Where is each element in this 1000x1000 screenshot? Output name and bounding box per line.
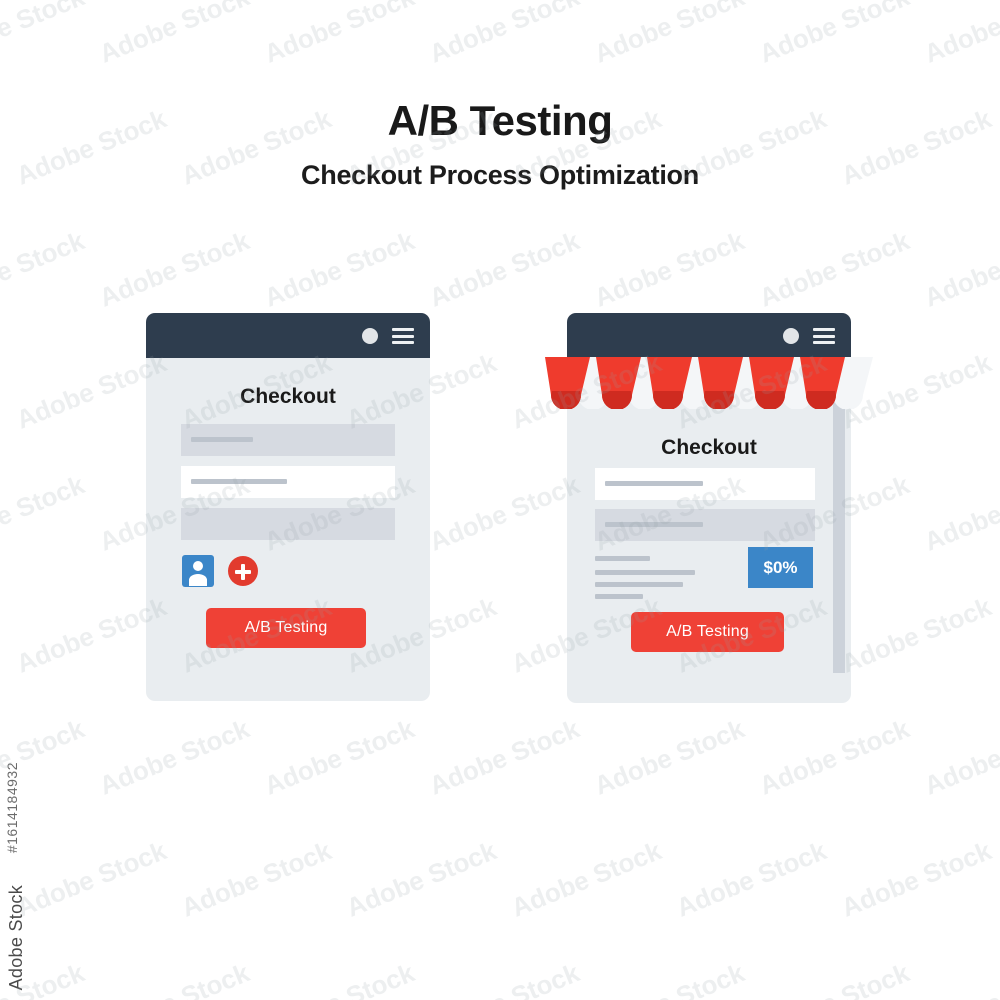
variant-b-heading: Checkout	[567, 436, 851, 460]
hamburger-menu-icon[interactable]	[392, 328, 414, 344]
page-subtitle: Checkout Process Optimization	[0, 160, 1000, 191]
summary-line	[595, 570, 695, 575]
watermark-text: Adobe Stock	[507, 835, 666, 923]
page-edge-strip	[833, 373, 845, 673]
variant-b-field-2[interactable]	[595, 509, 815, 541]
watermark-text: Adobe Stock	[920, 713, 1000, 801]
store-awning-icon	[545, 357, 873, 409]
watermark-text: Adobe Stock	[260, 225, 419, 313]
watermark-text: Adobe Stock	[95, 713, 254, 801]
variant-a-field-3[interactable]	[181, 508, 395, 540]
variant-a-topbar	[146, 313, 430, 358]
watermark-text: Adobe Stock	[425, 957, 584, 1000]
watermark-asset-id: #1614184932	[4, 762, 20, 853]
watermark-text: Adobe Stock	[177, 835, 336, 923]
watermark-text: Adobe Stock	[425, 225, 584, 313]
watermark-text: Adobe Stock	[425, 713, 584, 801]
watermark-text: Adobe Stock	[260, 713, 419, 801]
watermark-text: Adobe Stock	[425, 469, 584, 557]
placeholder-line	[605, 522, 703, 527]
watermark-text: Adobe Stock	[342, 835, 501, 923]
watermark-text: Adobe Stock	[95, 225, 254, 313]
plus-vertical-bar	[241, 564, 245, 580]
watermark-text: Adobe Stock	[672, 835, 831, 923]
watermark-text: Adobe Stock	[837, 591, 996, 679]
watermark-text: Adobe Stock	[755, 225, 914, 313]
watermark-text: Adobe Stock	[260, 957, 419, 1000]
circle-icon[interactable]	[783, 328, 799, 344]
illustration-canvas: A/B Testing Checkout Process Optimizatio…	[0, 0, 1000, 1000]
watermark-text: Adobe Stock	[920, 0, 1000, 70]
summary-line	[595, 594, 643, 599]
watermark-text: Adobe Stock	[920, 469, 1000, 557]
summary-line	[595, 556, 650, 561]
variant-a-field-2[interactable]	[181, 466, 395, 498]
awning-stripes-svg	[545, 357, 873, 409]
variant-b-topbar	[567, 313, 851, 358]
watermark-text: Adobe Stock	[920, 225, 1000, 313]
user-avatar-icon[interactable]	[182, 555, 214, 587]
placeholder-line	[605, 481, 703, 486]
watermark-text: Adobe Stock	[12, 835, 171, 923]
discount-badge[interactable]: $0%	[748, 547, 813, 588]
watermark-text: Adobe Stock	[755, 0, 914, 70]
watermark-text: Adobe Stock	[95, 0, 254, 70]
variant-a-cta-button[interactable]: A/B Testing	[206, 608, 366, 648]
watermark-text: Adobe Stock	[590, 713, 749, 801]
placeholder-line	[191, 479, 287, 484]
variant-a-card[interactable]: Checkout A/B Testing	[146, 313, 430, 701]
watermark-text: Adobe Stock	[920, 957, 1000, 1000]
variant-a-field-1[interactable]	[181, 424, 395, 456]
variant-a-heading: Checkout	[146, 385, 430, 409]
watermark-text: Adobe Stock	[590, 957, 749, 1000]
watermark-brand: Adobe Stock	[6, 885, 27, 990]
placeholder-line	[191, 437, 253, 442]
watermark-text: Adobe Stock	[755, 713, 914, 801]
watermark-text: Adobe Stock	[0, 469, 89, 557]
watermark-text: Adobe Stock	[95, 957, 254, 1000]
avatar-head-shape	[193, 561, 203, 571]
watermark-text: Adobe Stock	[590, 225, 749, 313]
variant-b-cta-button[interactable]: A/B Testing	[631, 612, 784, 652]
watermark-text: Adobe Stock	[260, 0, 419, 70]
hamburger-menu-icon[interactable]	[813, 328, 835, 344]
watermark-text: Adobe Stock	[425, 0, 584, 70]
avatar-body-shape	[189, 574, 207, 586]
watermark-text: Adobe Stock	[590, 0, 749, 70]
watermark-text: Adobe Stock	[755, 957, 914, 1000]
variant-b-field-1[interactable]	[595, 468, 815, 500]
variant-b-card[interactable]: Checkout $0% A/B Testing	[567, 313, 851, 703]
watermark-text: Adobe Stock	[0, 0, 89, 70]
summary-line	[595, 582, 683, 587]
variant-b-summary-lines	[595, 556, 735, 602]
watermark-text: Adobe Stock	[837, 835, 996, 923]
add-plus-icon[interactable]	[228, 556, 258, 586]
page-title: A/B Testing	[0, 97, 1000, 145]
watermark-text: Adobe Stock	[0, 225, 89, 313]
circle-icon[interactable]	[362, 328, 378, 344]
